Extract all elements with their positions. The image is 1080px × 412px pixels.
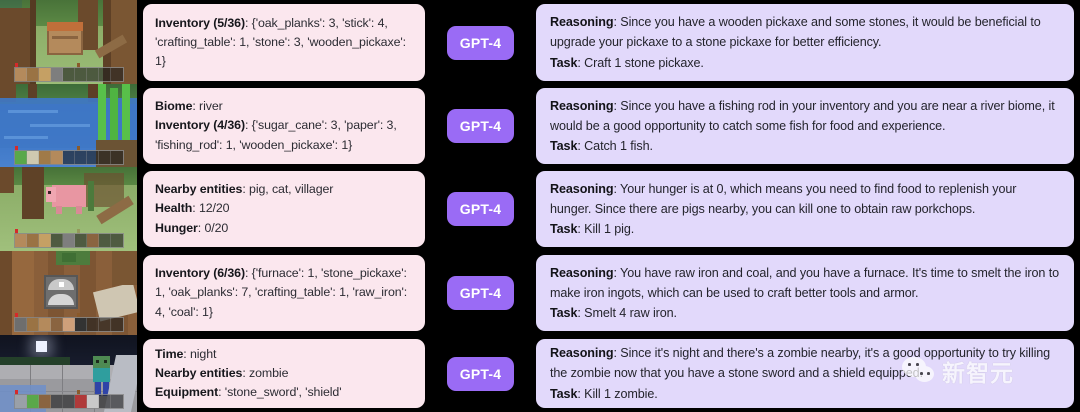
minecraft-screenshot-forest-crafting-table: [0, 0, 137, 85]
model-badge-wrap: GPT-4: [425, 335, 536, 412]
observation-value: : 'stone_sword', 'shield': [218, 385, 341, 399]
observation-value: : river: [192, 99, 222, 113]
task-line: Task: Smelt 4 raw iron.: [550, 303, 1060, 323]
reasoning-card: Reasoning: Your hunger is at 0, which me…: [536, 171, 1074, 247]
model-badge-gpt4[interactable]: GPT-4: [447, 276, 514, 310]
reasoning-text: : Since it's night and there's a zombie …: [550, 346, 1050, 380]
observation-value: : 0/20: [198, 221, 228, 235]
observation-label: Biome: [155, 99, 192, 113]
reasoning-label: Reasoning: [550, 182, 613, 196]
task-label: Task: [550, 222, 577, 236]
reasoning-card: Reasoning: Since you have a fishing rod …: [536, 88, 1074, 164]
reasoning-line: Reasoning: Since you have a wooden picka…: [550, 12, 1060, 52]
model-badge-gpt4[interactable]: GPT-4: [447, 26, 514, 60]
observation-line: Nearby entities: zombie: [155, 364, 413, 383]
observation-label: Inventory (4/36): [155, 118, 245, 132]
observation-line: Inventory (4/36): {'sugar_cane': 3, 'pap…: [155, 116, 413, 154]
observation-line: Biome: river: [155, 97, 413, 116]
task-label: Task: [550, 306, 577, 320]
reasoning-line: Reasoning: You have raw iron and coal, a…: [550, 263, 1060, 303]
observation-line: Nearby entities: pig, cat, villager: [155, 180, 413, 199]
model-badge-gpt4[interactable]: GPT-4: [447, 357, 514, 391]
reasoning-text: : Your hunger is at 0, which means you n…: [550, 182, 1016, 216]
example-row: Nearby entities: pig, cat, villager Heal…: [0, 167, 1080, 251]
model-badge-wrap: GPT-4: [425, 84, 536, 168]
model-badge-wrap: GPT-4: [425, 167, 536, 251]
reasoning-text: : You have raw iron and coal, and you ha…: [550, 266, 1059, 300]
task-label: Task: [550, 139, 577, 153]
observation-card: Inventory (6/36): {'furnace': 1, 'stone_…: [143, 255, 425, 331]
hotbar: [14, 67, 124, 82]
observation-card: Biome: river Inventory (4/36): {'sugar_c…: [143, 88, 425, 164]
task-text: : Craft 1 stone pickaxe.: [577, 56, 703, 70]
observation-label: Time: [155, 347, 183, 361]
observation-value: : pig, cat, villager: [242, 182, 333, 196]
task-text: : Kill 1 zombie.: [577, 387, 657, 401]
reasoning-label: Reasoning: [550, 346, 613, 360]
observation-value: : zombie: [242, 366, 288, 380]
observation-value: : 12/20: [192, 201, 229, 215]
task-label: Task: [550, 387, 577, 401]
observation-line: Equipment: 'stone_sword', 'shield': [155, 383, 413, 402]
task-text: : Smelt 4 raw iron.: [577, 306, 677, 320]
task-text: : Kill 1 pig.: [577, 222, 634, 236]
model-badge-gpt4[interactable]: GPT-4: [447, 109, 514, 143]
reasoning-line: Reasoning: Your hunger is at 0, which me…: [550, 179, 1060, 219]
example-row: Biome: river Inventory (4/36): {'sugar_c…: [0, 84, 1080, 168]
reasoning-label: Reasoning: [550, 99, 613, 113]
reasoning-card: Reasoning: Since it's night and there's …: [536, 339, 1074, 408]
task-text: : Catch 1 fish.: [577, 139, 653, 153]
reasoning-line: Reasoning: Since you have a fishing rod …: [550, 96, 1060, 136]
figure-root: Inventory (5/36): {'oak_planks': 3, 'sti…: [0, 0, 1080, 412]
reasoning-line: Reasoning: Since it's night and there's …: [550, 343, 1060, 383]
observation-value: : night: [183, 347, 216, 361]
minecraft-screenshot-forest-pig: [0, 167, 137, 251]
hotbar: [14, 394, 124, 409]
observation-label: Nearby entities: [155, 366, 242, 380]
observation-label: Inventory (6/36): [155, 266, 245, 280]
observation-card: Inventory (5/36): {'oak_planks': 3, 'sti…: [143, 4, 425, 81]
hotbar: [14, 317, 124, 332]
task-line: Task: Kill 1 pig.: [550, 219, 1060, 239]
model-badge-wrap: GPT-4: [425, 0, 536, 85]
task-label: Task: [550, 56, 577, 70]
reasoning-text: : Since you have a wooden pickaxe and so…: [550, 15, 1041, 49]
task-line: Task: Craft 1 stone pickaxe.: [550, 53, 1060, 73]
observation-label: Hunger: [155, 221, 198, 235]
observation-label: Nearby entities: [155, 182, 242, 196]
observation-line: Inventory (6/36): {'furnace': 1, 'stone_…: [155, 264, 413, 322]
task-line: Task: Kill 1 zombie.: [550, 384, 1060, 404]
observation-line: Hunger: 0/20: [155, 219, 413, 238]
minecraft-screenshot-cave-furnace: [0, 251, 137, 335]
observation-line: Health: 12/20: [155, 199, 413, 218]
model-badge-wrap: GPT-4: [425, 251, 536, 335]
reasoning-text: : Since you have a fishing rod in your i…: [550, 99, 1055, 133]
model-badge-gpt4[interactable]: GPT-4: [447, 192, 514, 226]
observation-card: Time: night Nearby entities: zombie Equi…: [143, 339, 425, 408]
example-row: Inventory (6/36): {'furnace': 1, 'stone_…: [0, 251, 1080, 335]
minecraft-screenshot-night-zombie: [0, 335, 137, 412]
observation-label: Health: [155, 201, 192, 215]
task-line: Task: Catch 1 fish.: [550, 136, 1060, 156]
observation-card: Nearby entities: pig, cat, villager Heal…: [143, 171, 425, 247]
reasoning-card: Reasoning: Since you have a wooden picka…: [536, 4, 1074, 81]
reasoning-label: Reasoning: [550, 15, 613, 29]
observation-line: Inventory (5/36): {'oak_planks': 3, 'sti…: [155, 14, 413, 72]
observation-line: Time: night: [155, 345, 413, 364]
observation-label: Equipment: [155, 385, 218, 399]
reasoning-card: Reasoning: You have raw iron and coal, a…: [536, 255, 1074, 331]
minecraft-screenshot-river-sugarcane: [0, 84, 137, 168]
observation-label: Inventory (5/36): [155, 16, 245, 30]
example-row: Inventory (5/36): {'oak_planks': 3, 'sti…: [0, 0, 1080, 85]
hotbar: [14, 233, 124, 248]
example-row: Time: night Nearby entities: zombie Equi…: [0, 335, 1080, 412]
hotbar: [14, 150, 124, 165]
reasoning-label: Reasoning: [550, 266, 613, 280]
